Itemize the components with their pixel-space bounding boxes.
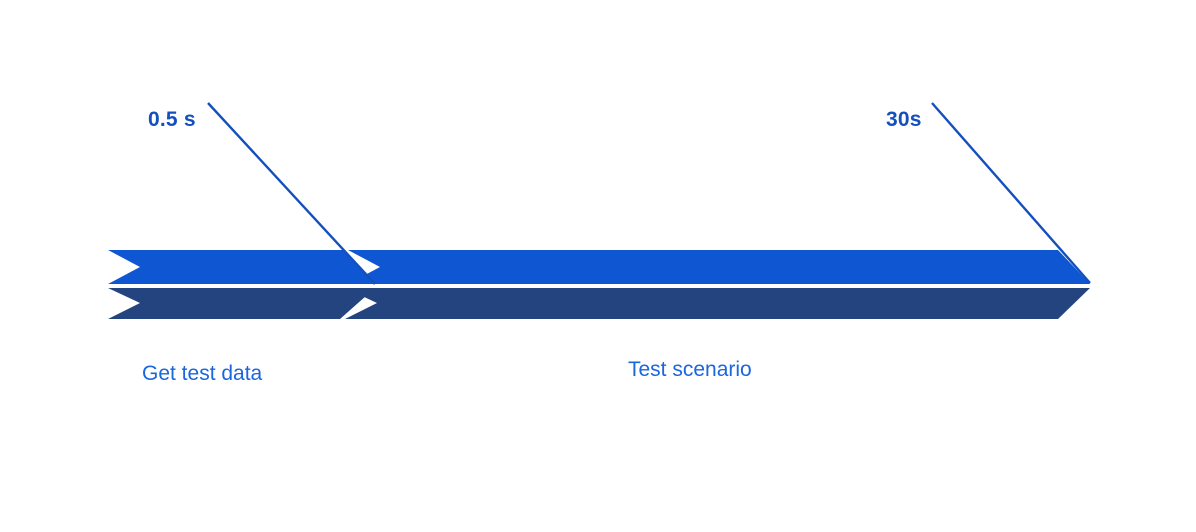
stage-band-top-get-test-data [108,250,375,284]
diagram-canvas: 0.5 s 30s Get test data Test scenario [0,0,1196,532]
pipeline-diagram [0,0,1196,532]
duration-label-test-scenario: 30s [886,108,922,132]
duration-label-get-test-data: 0.5 s [148,108,196,132]
stage-band-bottom-test-scenario [345,288,1090,319]
stage-label-get-test-data: Get test data [142,362,262,386]
stage-shape-get-test-data[interactable] [108,250,375,319]
stage-band-top-test-scenario [348,250,1090,284]
stage-band-bottom-get-test-data [108,288,375,319]
stage-label-test-scenario: Test scenario [628,358,752,382]
stage-shape-test-scenario[interactable] [345,250,1090,319]
